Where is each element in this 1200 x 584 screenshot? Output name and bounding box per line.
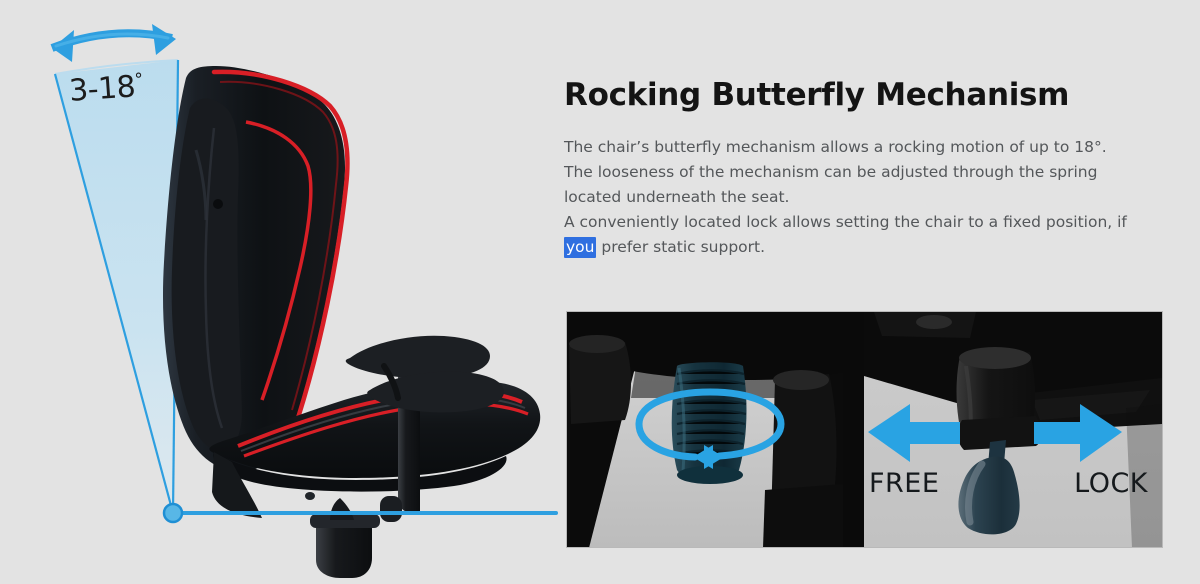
rocking-arc-double-arrow (52, 24, 176, 62)
recline-angle-wedge (55, 60, 178, 513)
recline-pivot-point (164, 504, 182, 522)
description-line-5-rest: prefer static support. (601, 238, 765, 256)
description-line-1: The chair’s butterfly mechanism allows a… (564, 135, 1164, 160)
recline-angle-label: 3-18° (68, 69, 144, 109)
recline-angle-value: 3-18 (68, 69, 136, 109)
photo-divider (843, 312, 864, 547)
page-title: Rocking Butterfly Mechanism (564, 78, 1164, 113)
degree-symbol: ° (134, 70, 143, 91)
feature-text-column: Rocking Butterfly Mechanism The chair’s … (564, 78, 1164, 260)
selected-text-highlight[interactable]: you (564, 237, 596, 258)
description-line-4: A conveniently located lock allows setti… (564, 210, 1164, 235)
chair-angle-illustration: 3-18° (0, 0, 560, 584)
product-feature-slide: 3-18° Rocking Butterfly Mechanism The ch… (0, 0, 1200, 584)
description-line-5: you prefer static support. (564, 235, 1164, 260)
mechanism-photo-panel: FREE LOCK (566, 311, 1163, 548)
gaming-chair-graphic (163, 66, 540, 578)
tension-spring-knob-photo (567, 312, 843, 547)
tilt-lock-lever-photo: FREE LOCK (864, 312, 1162, 547)
feature-description: The chair’s butterfly mechanism allows a… (564, 135, 1164, 261)
lock-label: LOCK (1074, 468, 1148, 499)
description-line-3: located underneath the seat. (564, 185, 1164, 210)
description-line-2: The looseness of the mechanism can be ad… (564, 160, 1164, 185)
free-label: FREE (869, 468, 939, 499)
